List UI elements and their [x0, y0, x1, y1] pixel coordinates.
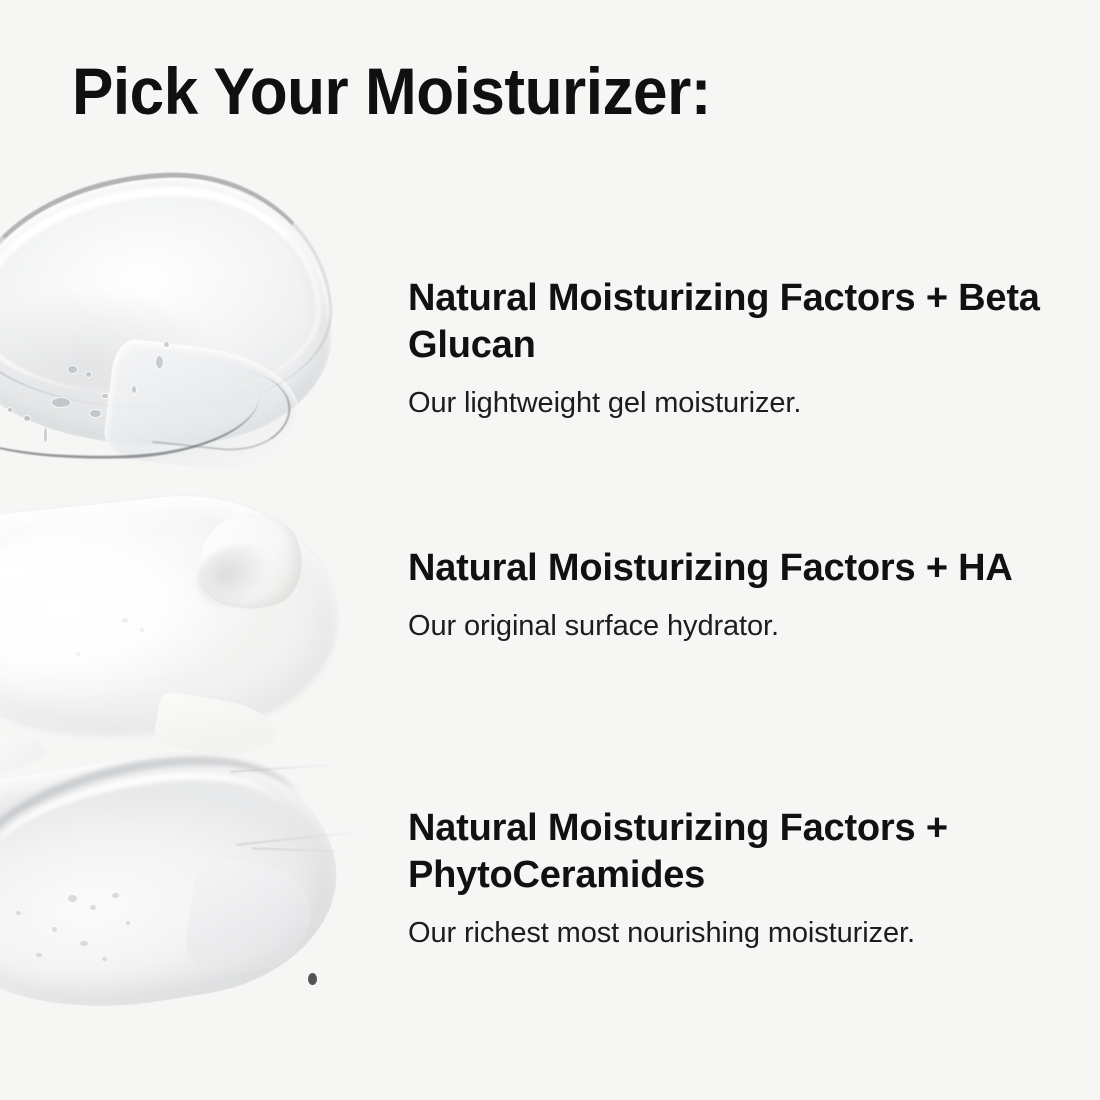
- product-name: Natural Moisturizing Factors + Beta Gluc…: [408, 275, 1068, 369]
- cream-droplet: [126, 921, 130, 925]
- gel-bubble: [24, 416, 30, 421]
- gel-bubble: [44, 428, 47, 442]
- product-row[interactable]: Natural Moisturizing Factors + PhytoCera…: [0, 745, 1100, 1030]
- gel-bubble: [164, 342, 169, 347]
- cream-droplet: [90, 905, 96, 910]
- gel-bubble: [8, 408, 12, 412]
- product-name: Natural Moisturizing Factors + HA: [408, 545, 1068, 592]
- product-description: Our richest most nourishing moisturizer.: [408, 913, 1068, 953]
- moisturizer-picker-graphic: Pick Your Moisturizer:: [0, 0, 1100, 1100]
- gel-bubble: [132, 386, 136, 393]
- product-text: Natural Moisturizing Factors + HA Our or…: [408, 545, 1068, 646]
- product-text: Natural Moisturizing Factors + Beta Gluc…: [408, 275, 1068, 423]
- cream-droplet: [112, 893, 119, 898]
- product-row[interactable]: Natural Moisturizing Factors + HA Our or…: [0, 490, 1100, 745]
- gel-bubble: [102, 394, 108, 398]
- cream-dark-speck: [308, 973, 317, 985]
- cream-droplet: [80, 941, 88, 946]
- cream-speckle: [122, 618, 128, 623]
- cream-smear: [0, 500, 350, 750]
- cream-droplet: [36, 953, 42, 957]
- gel-bubble: [86, 372, 91, 377]
- gel-bubble: [90, 410, 101, 417]
- product-description: Our lightweight gel moisturizer.: [408, 383, 1068, 423]
- product-text: Natural Moisturizing Factors + PhytoCera…: [408, 805, 1068, 953]
- page-title: Pick Your Moisturizer:: [72, 58, 711, 124]
- cream-droplet: [68, 895, 77, 902]
- white-cream-swatch: [0, 490, 350, 745]
- cream-speckle: [140, 628, 144, 632]
- cream-droplet: [52, 927, 57, 932]
- rich-cream-swatch: [0, 745, 350, 1030]
- clear-gel-swatch: [0, 170, 350, 480]
- gel-blob: [0, 170, 360, 480]
- product-row[interactable]: Natural Moisturizing Factors + Beta Gluc…: [0, 170, 1100, 480]
- gel-bubble: [68, 366, 77, 373]
- product-description: Our original surface hydrator.: [408, 606, 1068, 646]
- gel-bubble: [52, 398, 70, 407]
- cream-droplet: [102, 957, 107, 961]
- rich-cream-smear: [0, 745, 360, 1030]
- product-name: Natural Moisturizing Factors + PhytoCera…: [408, 805, 1068, 899]
- gel-bubble: [156, 356, 163, 368]
- cream-droplet: [16, 911, 21, 915]
- cream-speckle: [76, 652, 81, 656]
